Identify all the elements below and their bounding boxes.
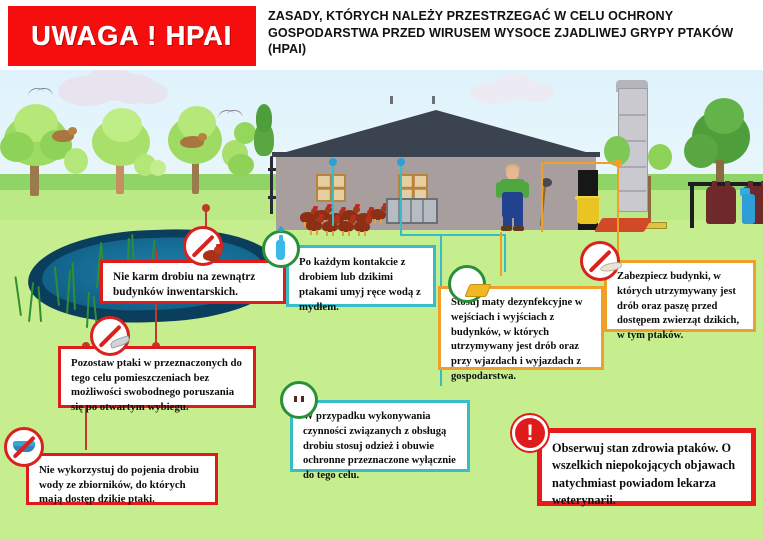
red-mat — [594, 218, 652, 232]
rule-card-protective-clothing: W przypadku wykonywania czynności związa… — [290, 400, 470, 472]
poster-title: ZASADY, KTÓRYCH NALEŻY PRZESTRZEGAĆ W CE… — [268, 8, 754, 58]
rule-card-no-outdoor-feeding: Nie karm drobiu na zewnątrz budynków inw… — [100, 260, 286, 304]
bush — [64, 148, 88, 174]
crate-leg — [432, 96, 435, 104]
connector-line — [400, 162, 402, 234]
farmer-head — [506, 166, 519, 180]
warning-badge: UWAGA ! HPAI — [8, 6, 256, 66]
rule-text: Pozostaw ptaki w przeznaczonych do tego … — [61, 349, 253, 422]
connector-dot — [397, 158, 405, 166]
farmer-boot — [501, 226, 512, 231]
farmer-arm — [523, 182, 529, 198]
flying-bird-icon — [28, 84, 54, 96]
tree-foliage — [0, 132, 34, 162]
conifer-tree — [256, 104, 272, 132]
yellow-bucket — [577, 198, 599, 224]
barn-window — [316, 174, 346, 202]
equipment-crate — [386, 198, 438, 224]
rule-card-no-surface-water: Nie wykorzystuj do pojenia drobiu wody z… — [26, 453, 218, 505]
barn-eave — [272, 152, 600, 157]
tree-foliage — [704, 98, 744, 134]
poster-header: UWAGA ! HPAI ZASADY, KTÓRYCH NALEŻY PRZE… — [0, 0, 763, 70]
hpai-biosecurity-poster: UWAGA ! HPAI ZASADY, KTÓRYCH NALEŻY PRZE… — [0, 0, 763, 540]
bush — [150, 160, 166, 176]
connector-dot — [329, 158, 337, 166]
perched-bird-head — [68, 127, 77, 135]
connector-line — [332, 162, 334, 226]
rule-card-keep-birds-indoors: Pozostaw ptaki w przeznaczonych do tego … — [58, 346, 256, 408]
rule-card-wash-hands: Po każdym kontakcie z drobiem lub dzikim… — [286, 245, 436, 307]
protective-apron — [706, 186, 736, 224]
crate-leg — [390, 96, 393, 104]
rule-card-secure-buildings: Zabezpiecz budynki, w których utrzymywan… — [604, 260, 756, 332]
no-feeding-poultry-icon — [183, 226, 223, 266]
no-pond-water-icon — [4, 427, 44, 467]
warning-badge-label: UWAGA ! HPAI — [32, 21, 233, 52]
cloud-icon — [132, 82, 168, 104]
rule-text: Zabezpiecz budynki, w których utrzymywan… — [607, 263, 753, 351]
barn-roof — [272, 110, 600, 156]
rule-text: W przypadku wykonywania czynności związa… — [293, 403, 467, 491]
soap-bottle-icon — [262, 230, 300, 268]
connector-line — [400, 234, 504, 236]
silo-band — [618, 166, 646, 168]
exclamation-glyph: ! — [515, 418, 545, 448]
tree-foliage — [102, 108, 142, 142]
disinfection-mat-icon — [448, 265, 486, 303]
tree-foliage — [178, 106, 216, 140]
no-free-range-icon — [90, 316, 130, 356]
no-wild-birds-icon — [580, 241, 620, 281]
silo-band — [618, 114, 646, 116]
bush — [234, 122, 256, 144]
tree-foliage — [684, 134, 718, 168]
soap-glyph — [275, 238, 287, 260]
rule-text: Obserwuj stan zdrowia ptaków. O wszelkic… — [542, 433, 751, 517]
connector-line — [541, 162, 617, 164]
connector-dot — [614, 159, 622, 167]
bush — [648, 144, 672, 170]
tree-trunk — [116, 162, 124, 194]
perched-bird-head — [198, 133, 207, 141]
rack-leg — [690, 182, 694, 228]
connector-line — [500, 232, 502, 276]
bush — [228, 154, 254, 176]
tree-trunk — [30, 162, 39, 196]
connector-line — [617, 162, 619, 260]
tool-handle — [648, 176, 651, 224]
connector-dot — [202, 204, 210, 212]
cloud-icon — [516, 82, 554, 102]
spray-bottle — [742, 194, 755, 224]
rule-text: Nie wykorzystuj do pojenia drobiu wody z… — [29, 456, 215, 514]
connector-line — [504, 234, 506, 272]
tree-trunk — [192, 160, 199, 194]
broom-head — [541, 178, 552, 187]
flying-bird-icon — [218, 106, 244, 118]
silo-band — [618, 190, 646, 192]
rule-text: Po każdym kontakcie z drobiem lub dzikim… — [289, 248, 433, 322]
rule-card-monitor-health: Obserwuj stan zdrowia ptaków. O wszelkic… — [537, 428, 756, 506]
rule-text: Nie karm drobiu na zewnątrz budynków inw… — [103, 263, 283, 308]
chicken-icon — [354, 217, 372, 233]
exclamation-alert-icon: ! — [512, 415, 548, 451]
rule-text: Stosuj maty dezynfekcyjne w wejściach i … — [441, 289, 601, 392]
connector-line — [541, 162, 543, 232]
farmer-boot — [513, 226, 524, 231]
protective-apron-icon — [280, 381, 318, 419]
